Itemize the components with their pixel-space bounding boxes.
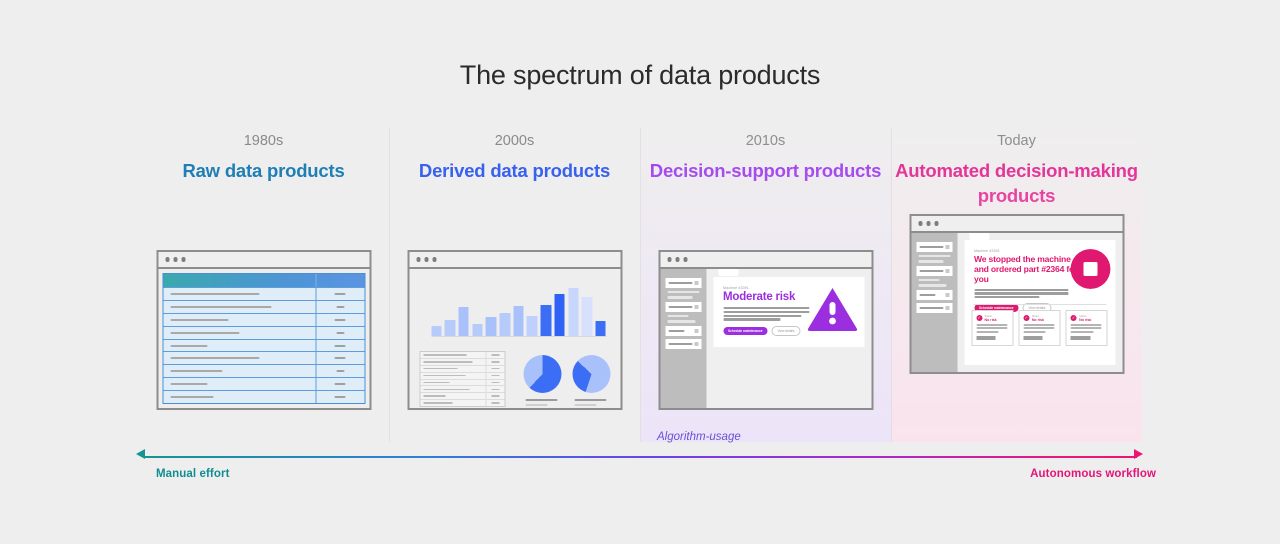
bar-12 — [582, 297, 593, 336]
mockup-window-spreadsheet — [156, 250, 371, 410]
bar-10 — [554, 294, 565, 336]
table-row — [163, 326, 364, 339]
window-dot-icon — [173, 257, 178, 262]
app-sidebar — [660, 269, 706, 408]
window-titlebar — [660, 252, 871, 269]
view-details-button[interactable]: View details — [772, 326, 801, 336]
window-dot-icon — [181, 257, 186, 262]
arrow-left-icon — [136, 449, 145, 459]
window-dot-icon — [424, 257, 429, 262]
window-content: Machine #3391 Moderate risk Schedule mai… — [660, 269, 871, 408]
spectrum-column-today: Today Automated decision-making products — [891, 128, 1142, 442]
card-divider — [973, 304, 1106, 305]
action-headline: We stopped the machine and ordered part … — [974, 254, 1080, 285]
risk-headline: Moderate risk — [723, 291, 819, 303]
risk-card-value: No risk — [1032, 318, 1044, 322]
app-sidebar — [911, 233, 957, 372]
spectrum-column-2010s: 2010s Decision-support products — [640, 128, 891, 442]
spectrum-axis: Manual effort Autonomous workflow — [0, 445, 1280, 490]
mockup-window-dashboard — [407, 250, 622, 410]
stop-circle-icon — [1070, 249, 1110, 289]
spectrum-column-2000s: 2000s Derived data products — [389, 128, 640, 442]
check-badge-icon: ✓ — [1023, 315, 1029, 321]
column-divider — [389, 128, 390, 442]
window-dot-icon — [683, 257, 688, 262]
tab-nub[interactable] — [969, 233, 989, 240]
pie-caption-1 — [525, 399, 557, 406]
pie-chart-1 — [523, 355, 561, 393]
window-dot-icon — [926, 221, 931, 226]
category-label-4: Automated decision-making products — [891, 158, 1142, 208]
category-label-2: Derived data products — [419, 158, 610, 183]
list-item[interactable]: ✓ Status No risk — [1066, 310, 1108, 346]
page-title: The spectrum of data products — [0, 60, 1280, 91]
axis-label-autonomous-workflow: Autonomous workflow — [1030, 468, 1156, 480]
window-content — [409, 269, 620, 408]
window-dot-icon — [432, 257, 437, 262]
arrow-right-icon — [1134, 449, 1143, 459]
era-label-4: Today — [997, 132, 1036, 150]
bar-8 — [527, 316, 538, 336]
table-row — [163, 300, 364, 313]
window-content — [158, 269, 369, 408]
app-main-panel: Machine #3391 We stopped the machine and… — [957, 233, 1122, 372]
bar-3 — [458, 307, 469, 336]
risk-card: Machine #3391 Moderate risk Schedule mai… — [713, 277, 864, 347]
bar-5 — [486, 317, 497, 336]
algorithm-usage-note: Algorithm-usage — [657, 431, 741, 443]
table-row — [163, 313, 364, 326]
spreadsheet-grid — [162, 273, 365, 404]
column-divider — [640, 128, 641, 442]
check-badge-icon: ✓ — [976, 315, 982, 321]
bar-4 — [472, 324, 483, 336]
pie-caption-2 — [574, 399, 606, 406]
pie-chart-2 — [572, 355, 610, 393]
spectrum-column-1980s: 1980s Raw data products — [138, 128, 389, 442]
warning-triangle-icon — [806, 286, 858, 332]
axis-label-manual-effort: Manual effort — [156, 468, 230, 480]
body-placeholder-lines — [974, 289, 1105, 299]
window-dot-icon — [416, 257, 421, 262]
action-card: Machine #3391 We stopped the machine and… — [964, 240, 1115, 365]
window-titlebar — [911, 216, 1122, 233]
list-item[interactable]: ✓ Status No risk — [1018, 310, 1060, 346]
bar-chart — [431, 285, 606, 337]
window-titlebar — [158, 252, 369, 269]
schedule-maintenance-button[interactable]: Schedule maintenance — [723, 327, 768, 335]
bar-2 — [445, 320, 456, 336]
bar-9 — [541, 305, 552, 336]
table-row — [163, 390, 364, 403]
table-row — [163, 351, 364, 364]
category-label-3: Decision-support products — [650, 158, 881, 183]
app-shell: Machine #3391 Moderate risk Schedule mai… — [660, 269, 871, 408]
window-dot-icon — [934, 221, 939, 226]
app-main-panel: Machine #3391 Moderate risk Schedule mai… — [706, 269, 871, 408]
table-row — [163, 287, 364, 300]
bar-11 — [568, 288, 579, 336]
list-item[interactable]: ✓ Status No risk — [971, 310, 1013, 346]
check-badge-icon: ✓ — [1071, 315, 1077, 321]
risk-card-list: ✓ Status No risk — [971, 310, 1108, 346]
bar-6 — [500, 313, 511, 336]
era-label-3: 2010s — [746, 132, 786, 150]
era-label-2: 2000s — [495, 132, 535, 150]
mini-data-table — [419, 351, 505, 407]
bar-1 — [431, 326, 442, 336]
axis-gradient-line — [145, 456, 1137, 458]
window-dot-icon — [918, 221, 923, 226]
category-label-1: Raw data products — [182, 158, 344, 183]
table-row — [163, 377, 364, 390]
mockup-window-automated-action: Machine #3391 We stopped the machine and… — [909, 214, 1124, 374]
window-titlebar — [409, 252, 620, 269]
spectrum-columns: 1980s Raw data products — [138, 128, 1142, 442]
risk-card-value: No risk — [1079, 318, 1091, 322]
tab-nub[interactable] — [718, 269, 738, 276]
window-dot-icon — [675, 257, 680, 262]
bar-7 — [513, 306, 524, 336]
bar-13 — [595, 321, 606, 336]
spreadsheet-header-row — [163, 274, 364, 287]
mockup-window-risk-alert: Machine #3391 Moderate risk Schedule mai… — [658, 250, 873, 410]
column-divider — [891, 128, 892, 442]
risk-card-value: No risk — [985, 318, 997, 322]
table-row — [163, 364, 364, 377]
window-dot-icon — [667, 257, 672, 262]
window-content: Machine #3391 We stopped the machine and… — [911, 233, 1122, 372]
window-dot-icon — [165, 257, 170, 262]
table-row — [163, 339, 364, 352]
app-shell: Machine #3391 We stopped the machine and… — [911, 233, 1122, 372]
era-label-1: 1980s — [244, 132, 284, 150]
